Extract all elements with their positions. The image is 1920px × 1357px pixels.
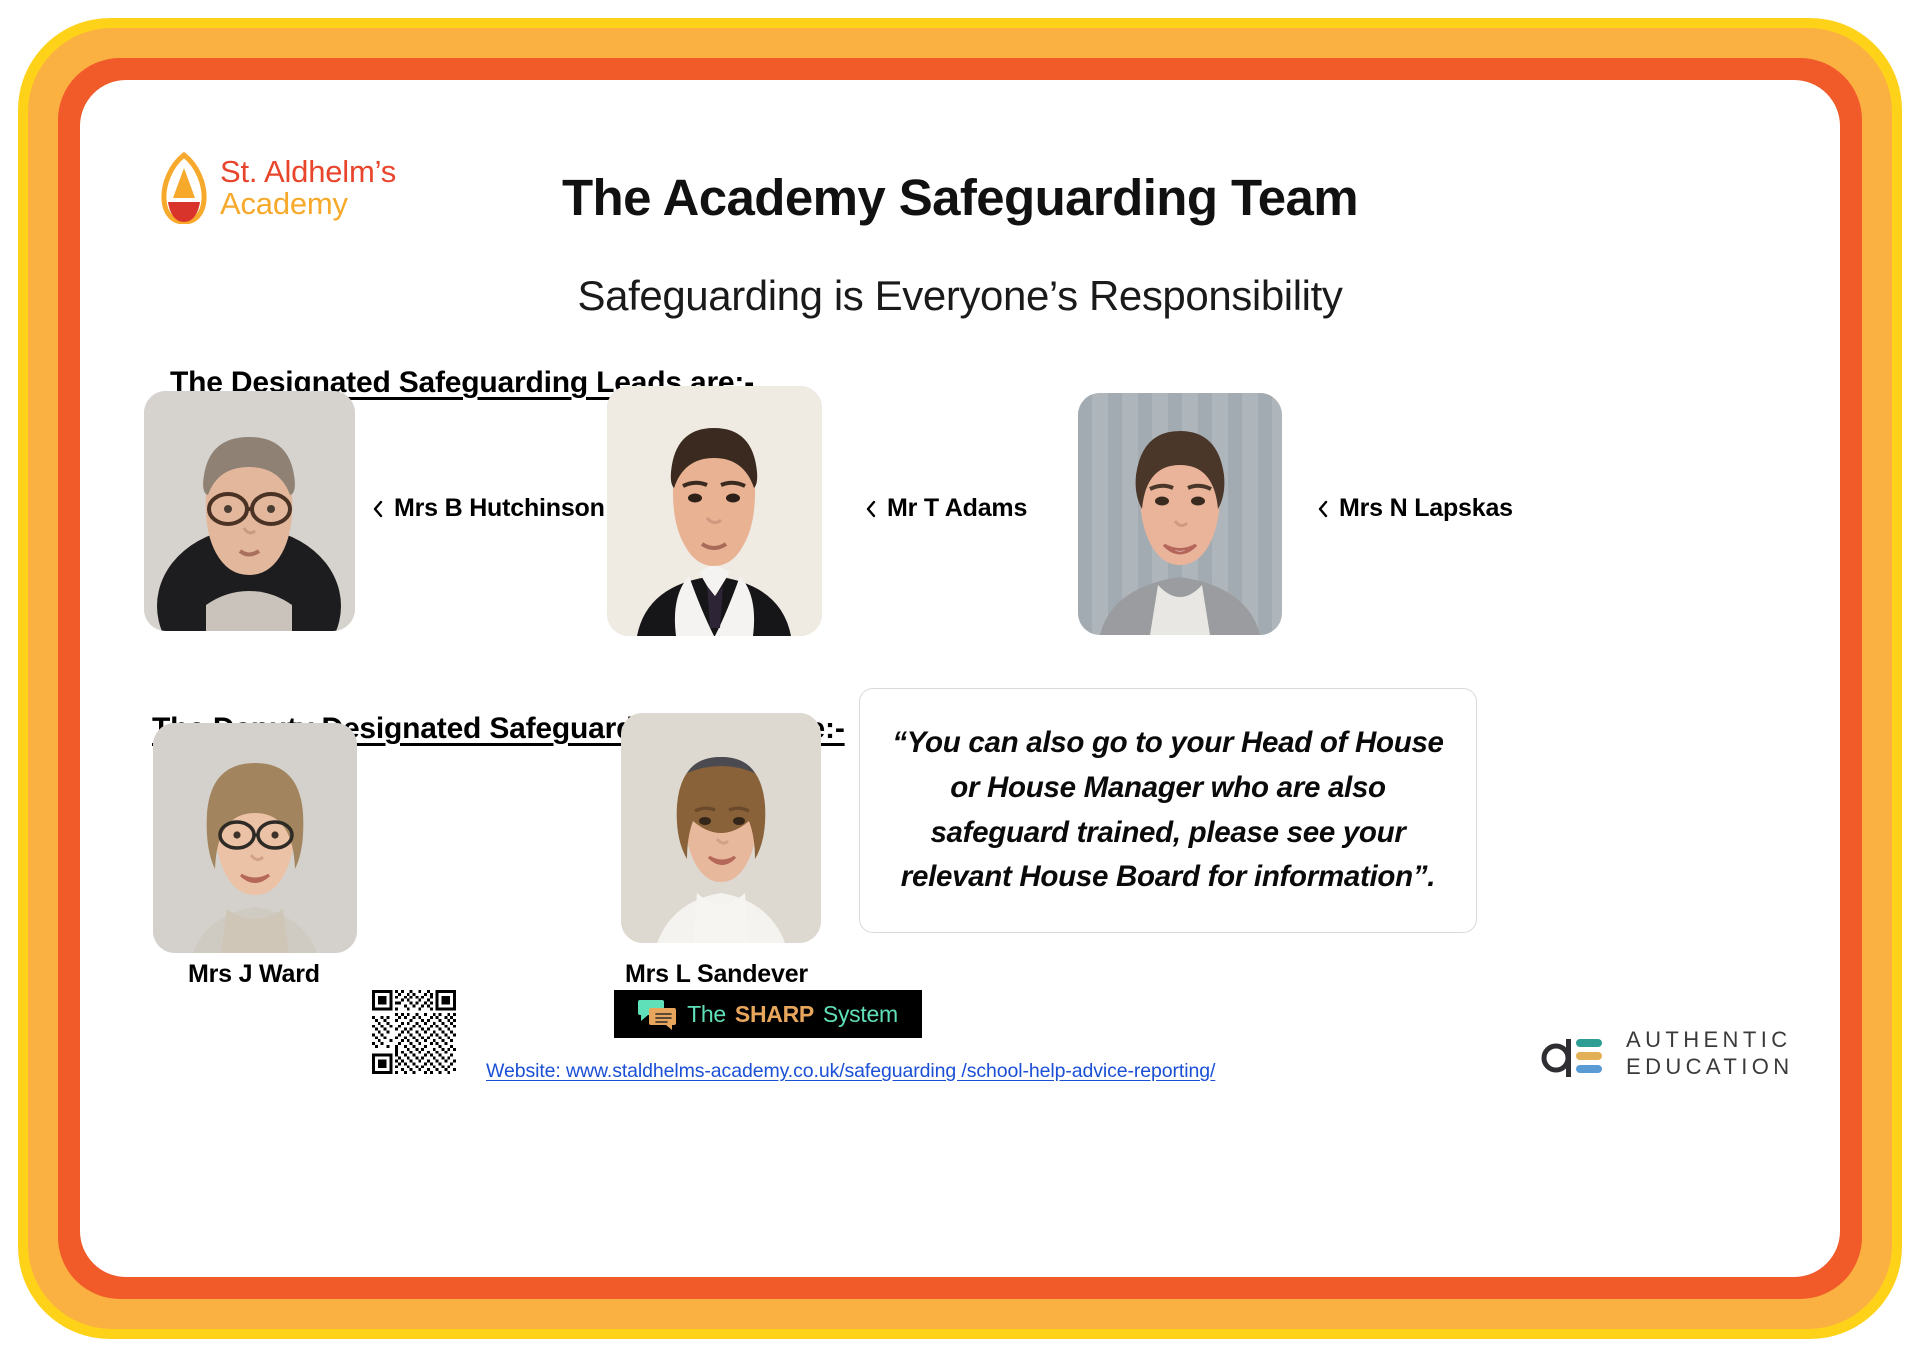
- nametag-adams: Mr T Adams: [865, 494, 1027, 523]
- nametag-lapskas: Mrs N Lapskas: [1317, 494, 1513, 523]
- poster-page: St. Aldhelm’s Academy The Academy Safegu…: [80, 80, 1840, 1277]
- lead-name: Mrs N Lapskas: [1339, 494, 1513, 523]
- chevron-left-icon: [865, 500, 876, 518]
- border-band-amber: St. Aldhelm’s Academy The Academy Safegu…: [28, 28, 1892, 1329]
- page-title: The Academy Safeguarding Team: [80, 168, 1840, 227]
- sharp-word-system: System: [823, 1001, 898, 1028]
- page-subtitle: Safeguarding is Everyone’s Responsibilit…: [80, 272, 1840, 320]
- quote-text: “You can also go to your Head of House o…: [888, 721, 1448, 900]
- portrait-ward: [153, 723, 357, 953]
- quote-box: “You can also go to your Head of House o…: [859, 688, 1477, 933]
- sharp-word-the: The: [687, 1001, 726, 1028]
- portrait-adams: [607, 386, 822, 636]
- chevron-left-icon: [1317, 500, 1328, 518]
- speech-bubbles-icon: [638, 998, 678, 1030]
- nametag-ward: Mrs J Ward: [188, 960, 320, 989]
- nametag-hutchinson: Mrs B Hutchinson: [372, 494, 605, 523]
- chevron-left-icon: [372, 500, 383, 518]
- website-link[interactable]: Website: www.staldhelms-academy.co.uk/sa…: [486, 1060, 1215, 1083]
- sharp-system-logo[interactable]: TheSHARPSystem: [614, 990, 922, 1038]
- nametag-sandever: Mrs L Sandever: [625, 960, 808, 989]
- ae-text-line1: AUTHENTIC: [1626, 1026, 1794, 1053]
- qr-code-icon[interactable]: [372, 990, 456, 1074]
- safeguarding-poster: St. Aldhelm’s Academy The Academy Safegu…: [0, 0, 1920, 1357]
- lead-name: Mrs B Hutchinson: [394, 494, 605, 523]
- ae-text-line2: EDUCATION: [1626, 1053, 1794, 1080]
- border-band-yellow: St. Aldhelm’s Academy The Academy Safegu…: [18, 18, 1902, 1339]
- portrait-sandever: [621, 713, 821, 943]
- sharp-word-sharp: SHARP: [735, 1001, 814, 1028]
- ae-monogram-icon: [1540, 1027, 1612, 1079]
- lead-name: Mr T Adams: [887, 494, 1027, 523]
- portrait-lapskas: [1078, 393, 1282, 635]
- authentic-education-logo: AUTHENTIC EDUCATION: [1540, 1026, 1794, 1081]
- portrait-hutchinson: [144, 391, 355, 631]
- border-band-orange: St. Aldhelm’s Academy The Academy Safegu…: [58, 58, 1862, 1299]
